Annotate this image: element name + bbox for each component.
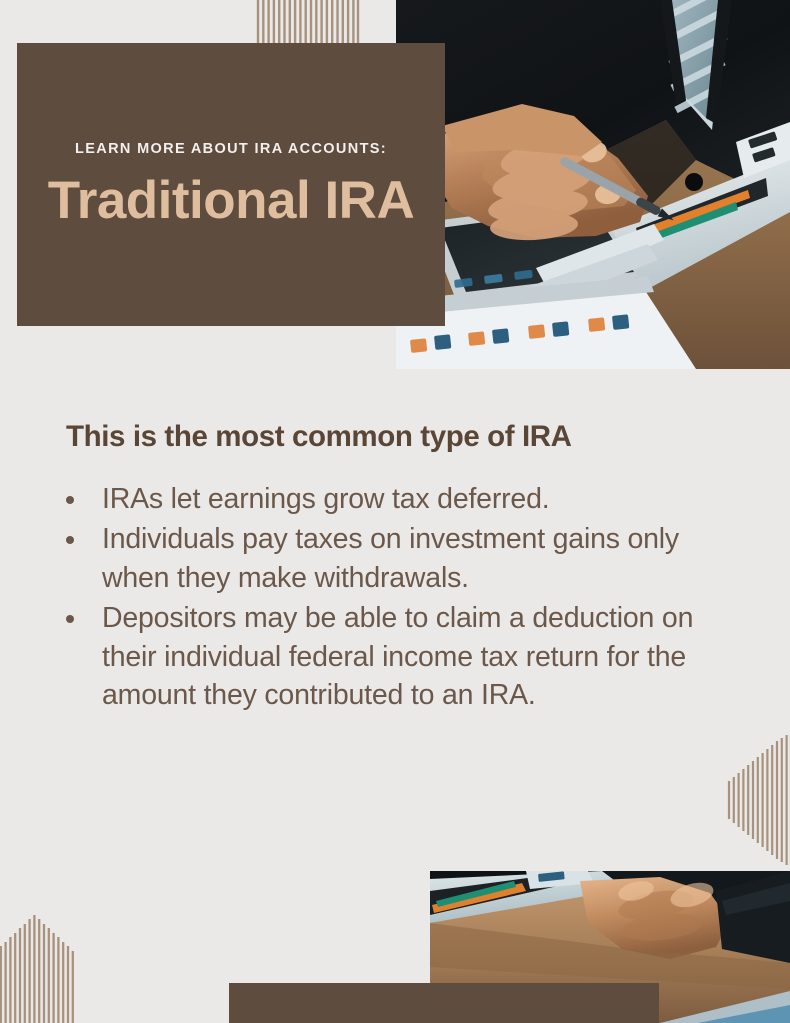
fact-bullet-list: IRAs let earnings grow tax deferred. Ind… <box>66 480 750 715</box>
bullet-dot-icon <box>66 496 74 504</box>
pentagon-line-pattern-decoration <box>0 900 80 1023</box>
businessman-reviewing-financial-charts-photo <box>396 0 790 369</box>
list-item-text: IRAs let earnings grow tax deferred. <box>102 483 549 515</box>
section-subheading: This is the most common type of IRA <box>66 420 750 454</box>
list-item: Depositors may be able to claim a deduct… <box>66 599 706 714</box>
eyebrow-label: LEARN MORE ABOUT IRA ACCOUNTS: <box>75 141 387 158</box>
list-item-text: Individuals pay taxes on investment gain… <box>102 523 679 593</box>
list-item-text: Depositors may be able to claim a deduct… <box>102 602 693 711</box>
footer-accent-bar <box>229 983 659 1023</box>
poster-canvas: LEARN MORE ABOUT IRA ACCOUNTS: Tradition… <box>0 0 790 1023</box>
page-title: Traditional IRA <box>48 174 414 228</box>
content-section: This is the most common type of IRA IRAs… <box>0 420 790 717</box>
list-item: IRAs let earnings grow tax deferred. <box>66 480 706 518</box>
title-card: LEARN MORE ABOUT IRA ACCOUNTS: Tradition… <box>17 43 445 326</box>
bullet-dot-icon <box>66 615 74 623</box>
list-item: Individuals pay taxes on investment gain… <box>66 520 706 597</box>
hexagon-line-pattern-decoration <box>726 735 790 865</box>
bullet-dot-icon <box>66 536 74 544</box>
